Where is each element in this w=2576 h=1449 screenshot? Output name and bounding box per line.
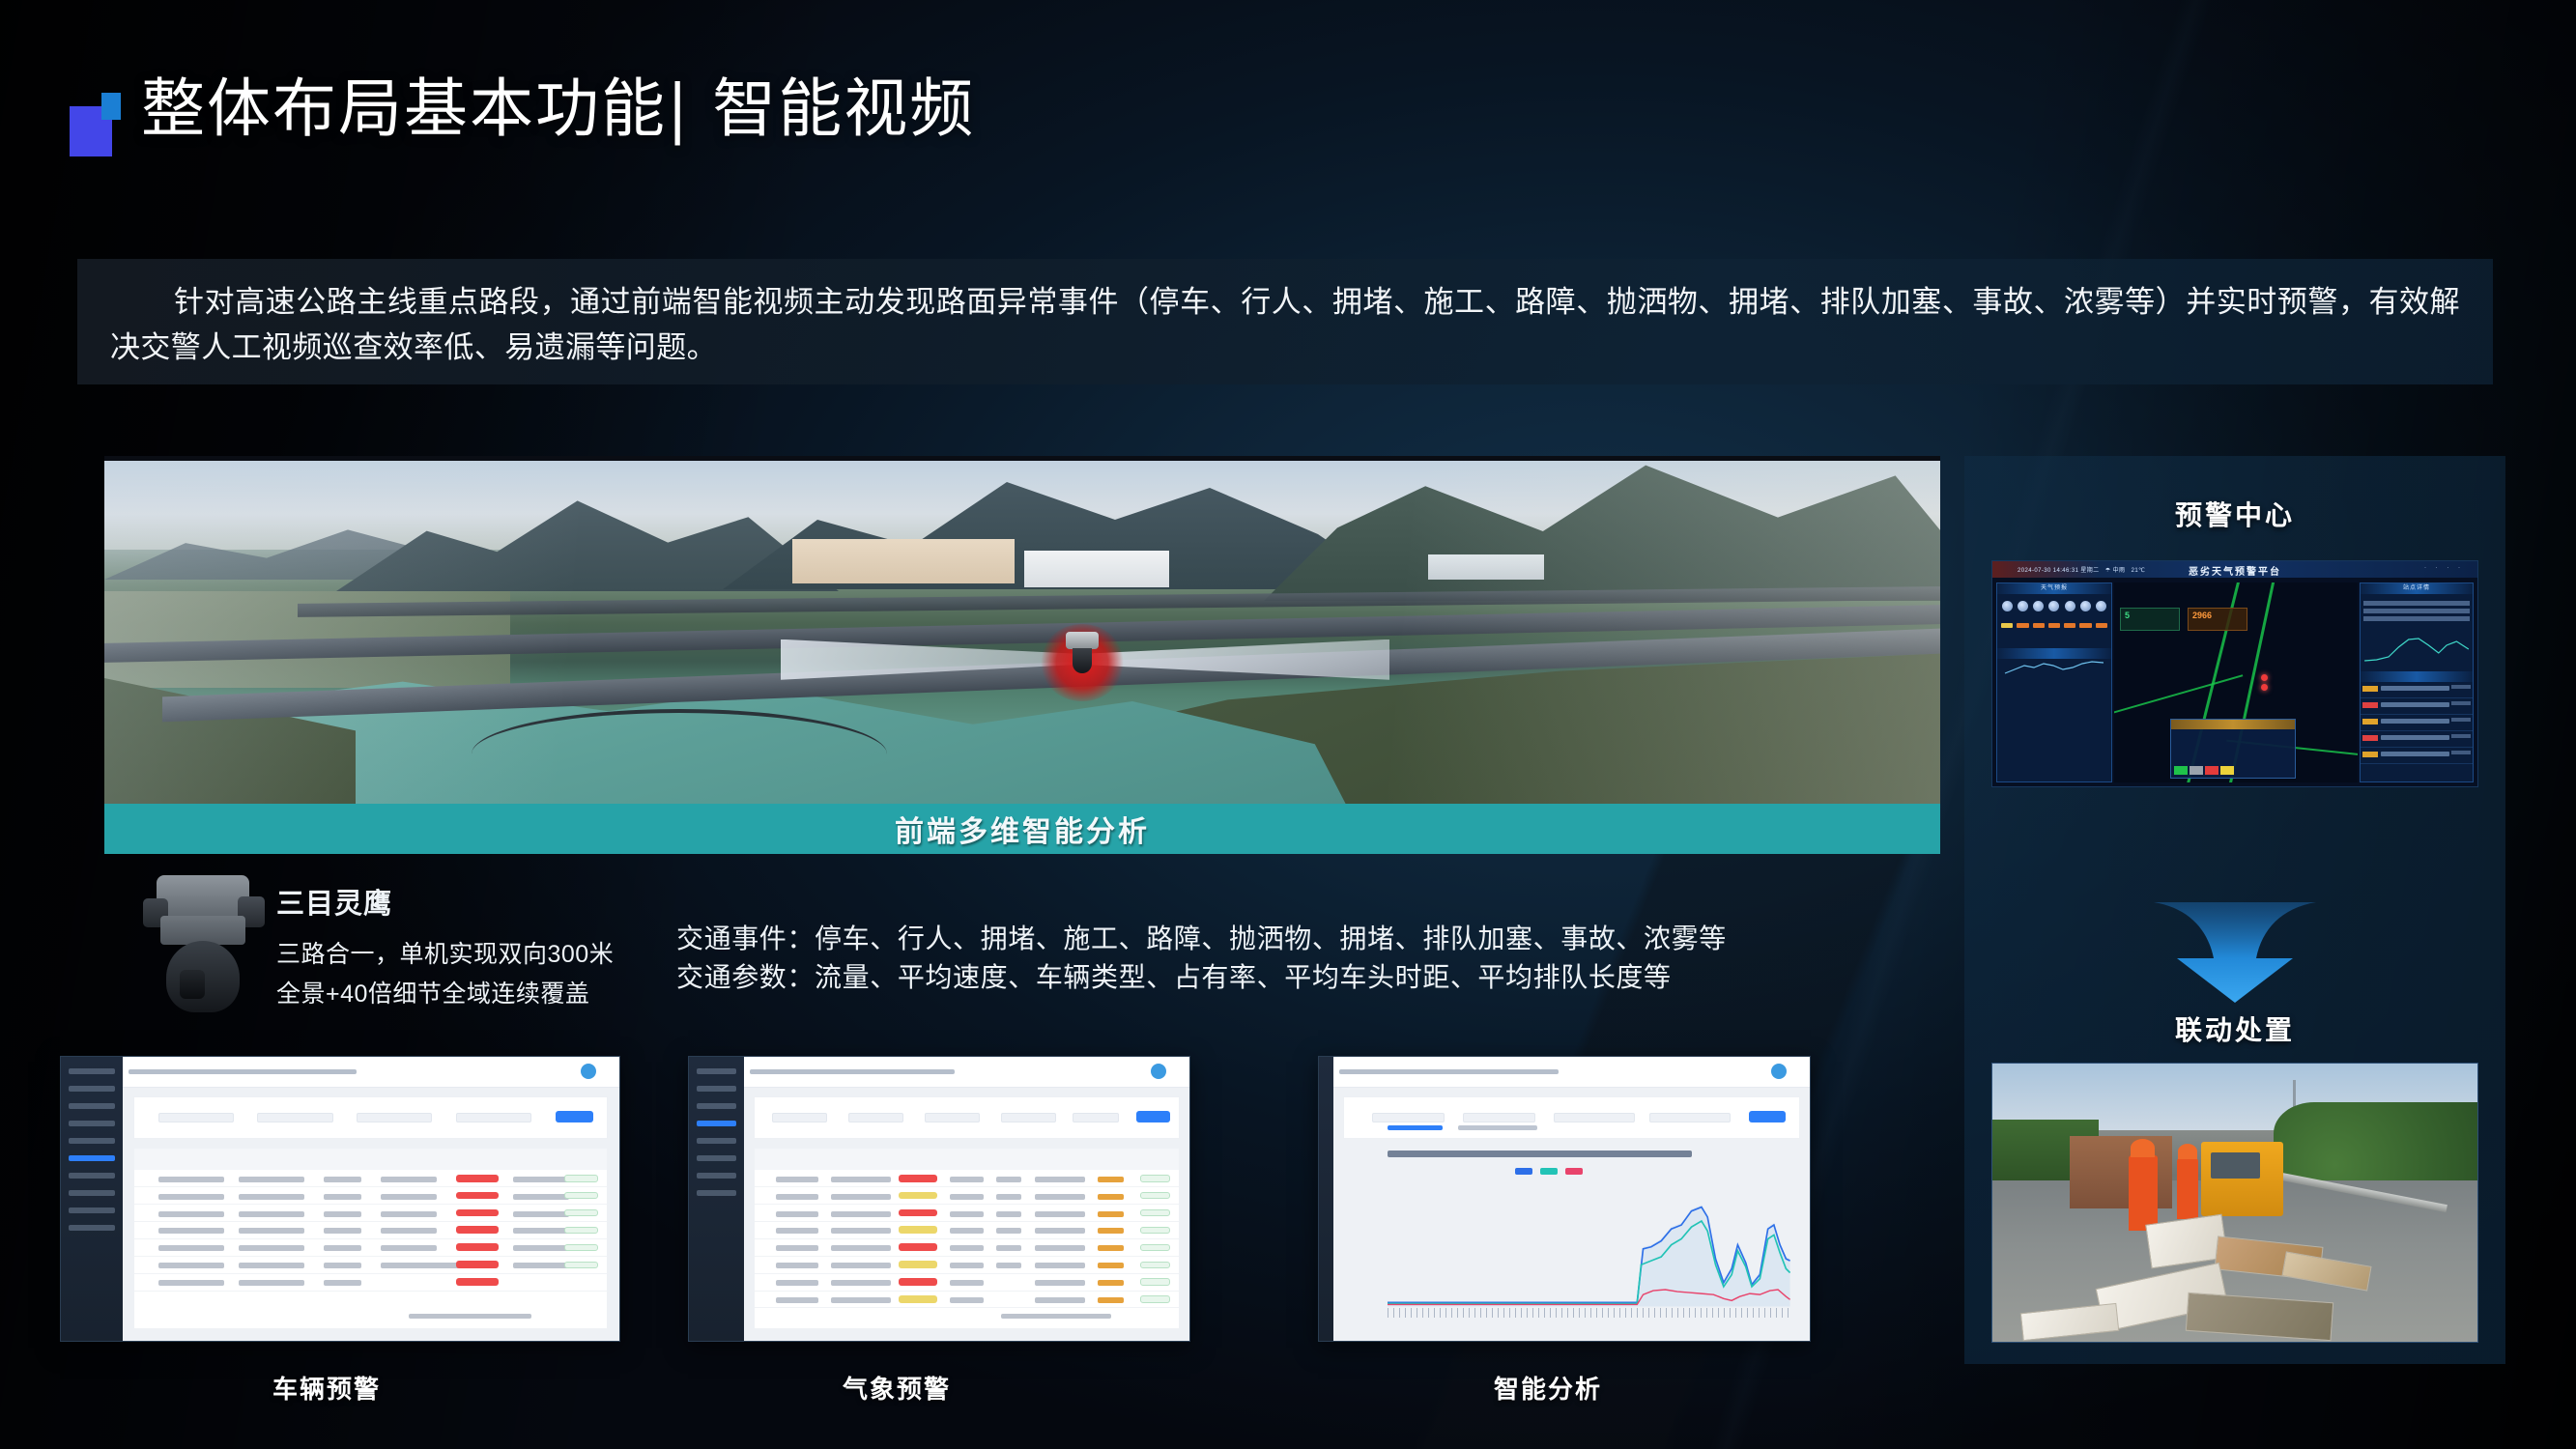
wx-header-bar: 2024-07-30 14:46:31 星期二 ☂ 中雨 21℃ 恶劣天气预警平… [1992, 561, 2477, 578]
cell [513, 1245, 570, 1251]
thumb2-nav-item [697, 1190, 736, 1196]
cell [996, 1211, 1021, 1217]
cell [996, 1245, 1021, 1251]
status-badge [899, 1192, 936, 1200]
wx-stat-total-value: 2966 [2189, 609, 2247, 620]
wx-forecast-card [2000, 598, 2014, 640]
panorama-scene [104, 461, 1940, 833]
wx-alert-list-title [2361, 671, 2473, 682]
wx-sparkline-svg [2001, 644, 2107, 687]
thumb3-filter-field [1372, 1113, 1445, 1122]
cell [831, 1263, 890, 1268]
cell [996, 1194, 1021, 1200]
alert-time [2451, 685, 2471, 689]
wx-forecast-title: 天气预报 [1997, 583, 2111, 594]
rescue-truck [2201, 1142, 2283, 1217]
thumb1-nav-item-active [69, 1155, 115, 1161]
status-badge [456, 1175, 499, 1182]
legend-chip-yellow [2220, 766, 2234, 775]
cell [1035, 1280, 1086, 1286]
cell [1035, 1228, 1086, 1234]
wx-stat-online: 5 [2120, 608, 2180, 631]
alert-text [2381, 686, 2449, 691]
chart-legend [1515, 1168, 1583, 1175]
cell [239, 1263, 305, 1268]
status-badge [899, 1175, 936, 1182]
thumb2-table-header [755, 1149, 1178, 1170]
wx-alert-popup-header [2171, 720, 2295, 729]
row-action [1140, 1227, 1170, 1234]
worker-1 [2129, 1155, 2158, 1231]
thumb2-filter-field [848, 1113, 903, 1122]
row-action [1140, 1262, 1170, 1268]
row-action [564, 1175, 597, 1181]
status-badge [899, 1243, 936, 1251]
wx-alert-markers [2255, 671, 2268, 691]
thumb1-nav-item [69, 1068, 115, 1074]
wx-site-chart [2361, 628, 2473, 667]
legend-chip-grey [2190, 766, 2203, 775]
wx-forecast-cards [1997, 594, 2111, 644]
thumbnail-caption-2: 气象预警 [843, 1370, 951, 1406]
thumb2-nav-item [697, 1173, 736, 1179]
alert-tag [2362, 702, 2378, 708]
row-action [564, 1192, 597, 1199]
table-row [755, 1205, 1178, 1222]
warning-center-title: 预警中心 [1964, 495, 2505, 533]
cell [239, 1177, 305, 1182]
sun-icon [2048, 601, 2059, 611]
row-link [1098, 1245, 1123, 1251]
thumb2-topbar [744, 1057, 1189, 1088]
slide-header: 整体布局基本功能| 智能视频 [70, 75, 975, 156]
tab-vehicle-stats [1458, 1125, 1536, 1130]
thumb3-date-to [1649, 1113, 1732, 1122]
thumb2-filter-field [925, 1113, 980, 1122]
wx-site-detail-title: 站点详情 [2361, 583, 2473, 594]
list-item [2361, 698, 2473, 715]
alert-time [2451, 751, 2471, 754]
cell [513, 1177, 570, 1182]
cell [950, 1280, 984, 1286]
row-link [1098, 1280, 1123, 1286]
thumb1-nav-item [69, 1121, 115, 1126]
row-action [564, 1262, 597, 1268]
cell [324, 1263, 361, 1268]
thumb1-sidebar [61, 1057, 123, 1341]
row-action [564, 1227, 597, 1234]
camera-overlay-dome [1073, 648, 1092, 673]
cell [776, 1263, 818, 1268]
thumb2-search-button [1136, 1111, 1170, 1122]
description-text: 针对高速公路主线重点路段，通过前端智能视频主动发现路面异常事件（停车、行人、拥堵… [110, 280, 2460, 370]
wx-weather-text: 中雨 [2113, 568, 2126, 574]
table-row [755, 1292, 1178, 1309]
wx-level-bar [2064, 623, 2075, 628]
thumb2-breadcrumb [750, 1069, 955, 1074]
row-action [1140, 1278, 1170, 1285]
row-action [564, 1244, 597, 1251]
alert-tag [2362, 686, 2378, 692]
thumb2-filter-bar [754, 1096, 1179, 1139]
cell [831, 1245, 890, 1251]
status-badge [456, 1192, 499, 1200]
thumb2-nav-item [697, 1155, 736, 1161]
worker-2 [2177, 1158, 2199, 1219]
cell [158, 1177, 225, 1182]
down-arrow-svg [2148, 902, 2322, 1003]
alert-time [2451, 701, 2471, 705]
wx-level-bar [2096, 623, 2107, 628]
alert-text [2381, 735, 2449, 740]
camera-name: 三目灵鹰 [276, 881, 779, 922]
table-row [134, 1274, 607, 1292]
thumb2-sidebar [689, 1057, 744, 1341]
cell [158, 1280, 225, 1286]
thumb1-topbar [123, 1057, 619, 1088]
thumbnail-vehicle-alarm[interactable] [60, 1056, 620, 1342]
down-arrow-icon [2148, 902, 2322, 1003]
thumb1-filter-field [158, 1113, 234, 1122]
thumb1-nav-item [69, 1190, 115, 1196]
alert-tag [2362, 752, 2378, 757]
status-badge [456, 1243, 499, 1251]
thumb1-nav-item [69, 1138, 115, 1144]
page-title: 整体布局基本功能| 智能视频 [141, 75, 975, 142]
cell [1035, 1177, 1086, 1182]
cell [950, 1177, 984, 1182]
table-row [755, 1274, 1178, 1292]
cell [776, 1297, 818, 1303]
table-row [134, 1257, 607, 1274]
row-action [1140, 1209, 1170, 1216]
cell [996, 1177, 1021, 1182]
status-badge [899, 1226, 936, 1234]
legend-swatch-series-1 [1540, 1168, 1558, 1175]
table-row [134, 1170, 607, 1187]
wx-brand-title: 恶劣天气预警平台 [2189, 563, 2281, 578]
incident-photo [1991, 1063, 2478, 1343]
thumb1-filter-field [357, 1113, 432, 1122]
row-link [1098, 1177, 1123, 1182]
traffic-events-label: 交通事件： [676, 923, 815, 953]
wx-datetime-text: 2024-07-30 14:46:31 星期二 [2018, 568, 2100, 574]
thumb2-nav-item-active [697, 1121, 736, 1126]
thumb2-nav-item [697, 1103, 736, 1109]
thumb2-filter-field [772, 1113, 827, 1122]
thumb3-search-button [1749, 1111, 1786, 1122]
thumb1-nav-item [69, 1086, 115, 1092]
wx-temperature-sparkline [2001, 644, 2107, 687]
thumb1-nav-item [69, 1225, 115, 1231]
traffic-capability-block: 交通事件：停车、行人、拥堵、施工、路障、抛洒物、拥堵、排队加塞、事故、浓雾等 交… [676, 920, 1727, 997]
panorama-image [104, 456, 1940, 833]
weather-dashboard-screenshot[interactable]: 2024-07-30 14:46:31 星期二 ☂ 中雨 21℃ 恶劣天气预警平… [1991, 560, 2478, 787]
thumb1-breadcrumb [129, 1069, 358, 1074]
status-badge [899, 1295, 936, 1303]
cell [239, 1228, 305, 1234]
cloud-icon [2033, 601, 2044, 611]
thumb1-nav-item [69, 1173, 115, 1179]
cell [1035, 1194, 1086, 1200]
wx-stat-online-value: 5 [2121, 609, 2179, 620]
row-action [1140, 1175, 1170, 1181]
thumb2-nav-item [697, 1138, 736, 1144]
wx-level-bar [2048, 623, 2060, 628]
thumb2-nav-item [697, 1068, 736, 1074]
traffic-params-label: 交通参数： [676, 962, 815, 992]
wx-site-fields [2361, 594, 2473, 628]
cell [381, 1177, 438, 1182]
cell [513, 1228, 570, 1234]
cell [950, 1228, 984, 1234]
bullet-square-icon [70, 93, 128, 156]
wx-stat-total: 2966 [2188, 608, 2247, 631]
chart-svg [1388, 1187, 1790, 1307]
table-row [755, 1170, 1178, 1187]
thumb3-sidebar [1319, 1057, 1333, 1341]
cell [1035, 1297, 1086, 1303]
wx-forecast-card [2095, 598, 2108, 640]
thumb3-tabs [1388, 1125, 1584, 1143]
wx-site-field [2363, 609, 2470, 613]
legend-chip-green [2174, 766, 2188, 775]
list-item [2361, 731, 2473, 748]
alert-marker [2261, 684, 2268, 691]
cell [324, 1177, 361, 1182]
thumb3-filter-field [1463, 1113, 1535, 1122]
status-badge [456, 1278, 499, 1286]
thumb1-avatar [581, 1064, 596, 1079]
cell [776, 1245, 818, 1251]
wx-site-field [2363, 601, 2470, 606]
thumb2-nav-item [697, 1086, 736, 1092]
wx-forecast-panel: 天气预报 [1996, 582, 2112, 782]
legend-chip-red [2205, 766, 2218, 775]
row-link [1098, 1211, 1123, 1217]
status-badge [456, 1226, 499, 1234]
cell [381, 1245, 438, 1251]
list-item [2361, 715, 2473, 731]
thumb1-table [133, 1148, 608, 1329]
cell [158, 1194, 225, 1200]
status-badge [899, 1278, 936, 1286]
panorama-banner-label: 前端多维智能分析 [895, 808, 1150, 850]
wx-site-field [2363, 616, 2470, 621]
camera-overlay-body [1066, 632, 1099, 649]
cell [1035, 1245, 1086, 1251]
slide-root: 整体布局基本功能| 智能视频 针对高速公路主线重点路段，通过前端智能视频主动发现… [0, 0, 2576, 1449]
table-row [134, 1205, 607, 1222]
status-badge [456, 1209, 499, 1217]
cell [513, 1194, 570, 1200]
status-badge [899, 1261, 936, 1268]
wx-level-bar [2079, 623, 2091, 628]
traffic-events-row: 交通事件：停车、行人、拥堵、施工、路障、抛洒物、拥堵、排队加塞、事故、浓雾等 [676, 920, 1727, 958]
thumb1-filter-bar [133, 1096, 608, 1139]
cell [381, 1263, 466, 1268]
cell [324, 1245, 361, 1251]
cell [513, 1211, 570, 1217]
thumb1-table-header [134, 1149, 607, 1170]
chart-title [1388, 1151, 1692, 1157]
cell [831, 1280, 890, 1286]
chart-plot-area [1388, 1187, 1790, 1307]
list-item [2361, 682, 2473, 698]
wx-temperature-text: 21℃ [2132, 568, 2146, 574]
cell [239, 1211, 305, 1217]
row-link [1098, 1297, 1123, 1303]
right-panel: 预警中心 2024-07-30 14:46:31 星期二 ☂ 中雨 21℃ 恶劣… [1964, 456, 2505, 1364]
cloud-icon [2096, 601, 2106, 611]
wx-nav-items: · · · · [2424, 565, 2464, 571]
cell [831, 1228, 890, 1234]
table-row [755, 1222, 1178, 1239]
cell [158, 1211, 225, 1217]
thumb3-date-from [1554, 1113, 1636, 1122]
linkage-title: 联动处置 [1964, 1009, 2505, 1048]
cloud-rain-icon [2002, 601, 2013, 611]
wx-map-view: 5 2966 [2114, 582, 2358, 782]
wx-datetime: 2024-07-30 14:46:31 星期二 ☂ 中雨 21℃ [2018, 565, 2145, 574]
truck-cab [2211, 1152, 2260, 1179]
cell [324, 1211, 361, 1217]
traffic-params-value: 流量、平均速度、车辆类型、占有率、平均车头时距、平均排队长度等 [815, 962, 1672, 992]
status-badge [899, 1209, 936, 1217]
alert-text [2381, 752, 2449, 756]
cell [513, 1263, 570, 1268]
cell [831, 1177, 890, 1182]
wx-forecast-card [2047, 598, 2061, 640]
thumb1-search-button [556, 1111, 593, 1122]
camera-top-unit [157, 875, 249, 920]
map-road [2114, 674, 2243, 717]
table-row [755, 1239, 1178, 1257]
row-link [1098, 1228, 1123, 1234]
cell [776, 1280, 818, 1286]
cell [158, 1245, 225, 1251]
thumb1-filter-field [257, 1113, 332, 1122]
cell [950, 1194, 984, 1200]
row-action [1140, 1244, 1170, 1251]
thumb3-topbar [1333, 1057, 1810, 1088]
status-badge [456, 1261, 499, 1268]
camera-product-photo [143, 869, 265, 1016]
table-row [755, 1187, 1178, 1205]
wx-forecast-card [2063, 598, 2076, 640]
row-action [564, 1209, 597, 1216]
wx-forecast-card [2032, 598, 2046, 640]
wx-level-bar [2033, 623, 2045, 628]
thumbnail-caption-1: 车辆预警 [272, 1370, 381, 1406]
cell [324, 1194, 361, 1200]
wx-forecast-card [2078, 598, 2092, 640]
cell [950, 1297, 984, 1303]
cell [158, 1228, 225, 1234]
cell [776, 1177, 818, 1182]
cell [950, 1211, 984, 1217]
alert-marker [2261, 674, 2268, 681]
cell [324, 1228, 361, 1234]
thumbnail-caption-3: 智能分析 [1494, 1370, 1602, 1406]
legend-swatch-series-2 [1565, 1168, 1583, 1175]
camera-ptz-lens [180, 970, 205, 999]
alert-tag [2362, 719, 2378, 724]
table-row [134, 1222, 607, 1239]
cell [950, 1245, 984, 1251]
thumb3-breadcrumb [1339, 1069, 1559, 1074]
cloud-icon [2080, 601, 2091, 611]
bullet-square-accent [101, 93, 121, 120]
cell [1035, 1211, 1086, 1217]
cell [381, 1211, 438, 1217]
table-row [134, 1239, 607, 1257]
thumb1-pagination [409, 1314, 531, 1319]
wx-level-bar [2001, 623, 2013, 628]
tab-flow-analysis [1388, 1125, 1443, 1130]
traffic-params-row: 交通参数：流量、平均速度、车辆类型、占有率、平均车头时距、平均排队长度等 [676, 958, 1727, 997]
thumb2-avatar [1151, 1064, 1166, 1079]
cell [950, 1263, 984, 1268]
cell [831, 1211, 890, 1217]
cell [996, 1228, 1021, 1234]
cell [1035, 1263, 1086, 1268]
thumb2-filter-field [1073, 1113, 1119, 1122]
table-row [755, 1257, 1178, 1274]
cell [776, 1194, 818, 1200]
thumb1-nav-item [69, 1207, 115, 1213]
chart-x-axis-labels [1388, 1308, 1790, 1318]
wx-forecast-card [2016, 598, 2029, 640]
thumb1-filter-field [456, 1113, 531, 1122]
thumb1-nav-item [69, 1103, 115, 1109]
panorama-banner: 前端多维智能分析 [104, 804, 1940, 854]
cell [324, 1280, 361, 1286]
row-action [1140, 1192, 1170, 1199]
cell [776, 1228, 818, 1234]
row-link [1098, 1194, 1123, 1200]
sun-icon [2065, 601, 2075, 611]
cell [996, 1263, 1021, 1268]
list-item [2361, 748, 2473, 764]
thumb2-filter-field [1001, 1113, 1056, 1122]
thumb3-avatar [1771, 1064, 1787, 1079]
alert-text [2381, 719, 2449, 724]
cell [239, 1245, 305, 1251]
row-link [1098, 1263, 1123, 1268]
wx-site-detail-panel: 站点详情 [2360, 582, 2474, 782]
cell [239, 1280, 305, 1286]
row-action [1140, 1295, 1170, 1302]
wx-legend-chips [2174, 766, 2234, 775]
legend-swatch-series-0 [1515, 1168, 1532, 1175]
thumb2-pagination [1001, 1314, 1111, 1319]
cell [239, 1194, 305, 1200]
thumbnail-smart-analysis[interactable] [1318, 1056, 1811, 1342]
cell [381, 1194, 438, 1200]
cloud-icon [2018, 601, 2028, 611]
cell [831, 1194, 890, 1200]
alert-time [2451, 734, 2471, 738]
alert-tag [2362, 735, 2378, 741]
cell [776, 1211, 818, 1217]
thumbnail-weather-alarm[interactable] [688, 1056, 1190, 1342]
atmospheric-haze [104, 461, 1940, 833]
cell [831, 1297, 890, 1303]
wx-level-bar [2017, 623, 2028, 628]
table-row [134, 1187, 607, 1205]
cell [158, 1263, 225, 1268]
